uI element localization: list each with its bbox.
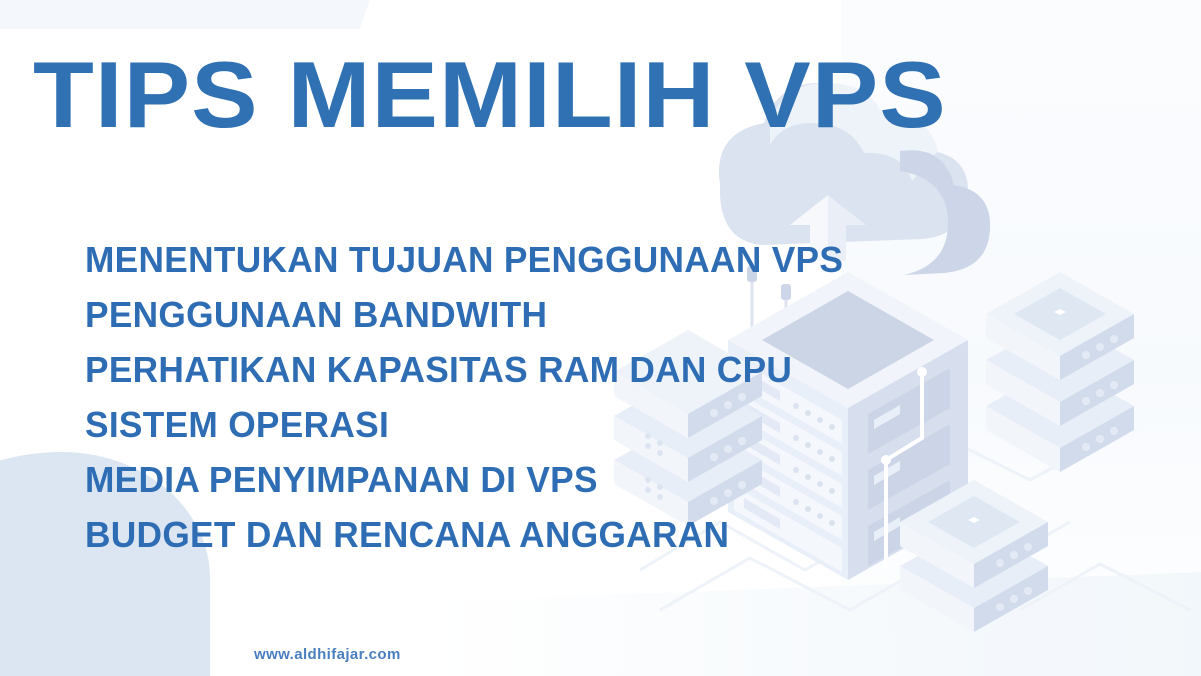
footer-website-url: www.aldhifajar.com bbox=[254, 646, 401, 663]
list-item: BUDGET DAN RENCANA ANGGARAN bbox=[85, 507, 830, 562]
list-item: SISTEM OPERASI bbox=[85, 397, 830, 452]
tips-list: MENENTUKAN TUJUAN PENGGUNAAN VPS PENGGUN… bbox=[85, 232, 845, 562]
top-diagonal-band bbox=[0, 0, 370, 29]
page-title: TIPS MEMILIH VPS bbox=[33, 45, 947, 145]
poster-canvas: TIPS MEMILIH VPS MENENTUKAN TUJUAN PENGG… bbox=[0, 0, 1201, 676]
list-item: PENGGUNAAN BANDWITH bbox=[85, 287, 830, 342]
list-item: PERHATIKAN KAPASITAS RAM DAN CPU bbox=[85, 342, 830, 397]
list-item: MEDIA PENYIMPANAN DI VPS bbox=[85, 452, 830, 507]
bottom-background-wash bbox=[430, 570, 1201, 676]
list-item: MENENTUKAN TUJUAN PENGGUNAAN VPS bbox=[85, 232, 830, 287]
